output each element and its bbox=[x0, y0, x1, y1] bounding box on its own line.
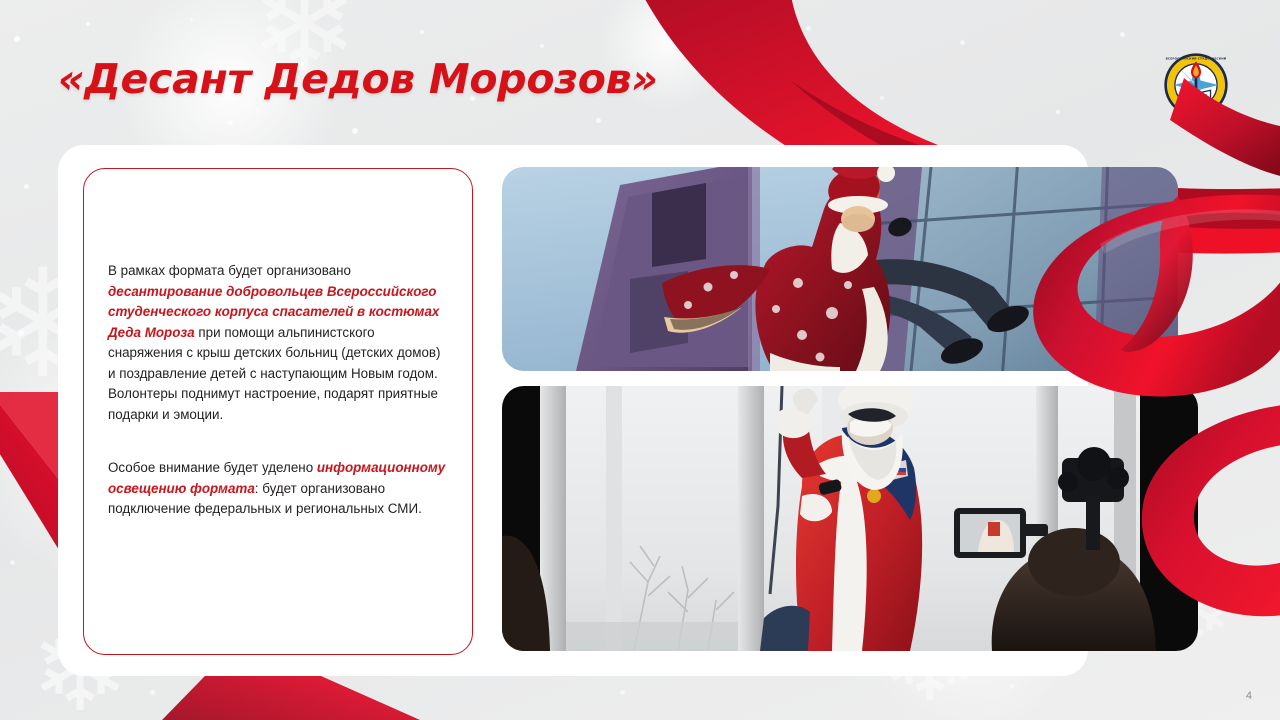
description-box: В рамках формата будет организовано деса… bbox=[83, 168, 473, 655]
photo-ded-moroz-rappelling bbox=[502, 167, 1178, 371]
emblem-text-top: ВСЕРОССИЙСКИЙ СТУДЕНЧЕСКИЙ bbox=[1166, 55, 1227, 60]
paragraph-2: Особое внимание будет уделено информацио… bbox=[108, 458, 446, 520]
paragraph-2-run-1: Особое внимание будет уделено bbox=[108, 460, 317, 475]
page-number: 4 bbox=[1246, 690, 1252, 702]
photo-ded-moroz-window-filming bbox=[502, 386, 1198, 651]
paragraph-1-run-1: В рамках формата будет организовано bbox=[108, 263, 351, 278]
page-title: «Десант Дедов Морозов» bbox=[58, 55, 658, 103]
vsks-emblem-logo: ВСЕРОССИЙСКИЙ СТУДЕНЧЕСКИЙ КОРПУС СПАСАТ… bbox=[1163, 52, 1229, 118]
slide-root: ❄ ❄ ❄ ❄ ❄ bbox=[0, 0, 1280, 720]
paragraph-1: В рамках формата будет организовано деса… bbox=[108, 261, 446, 425]
emblem-text-bottom: КОРПУС СПАСАТЕЛЕЙ bbox=[1175, 111, 1217, 116]
